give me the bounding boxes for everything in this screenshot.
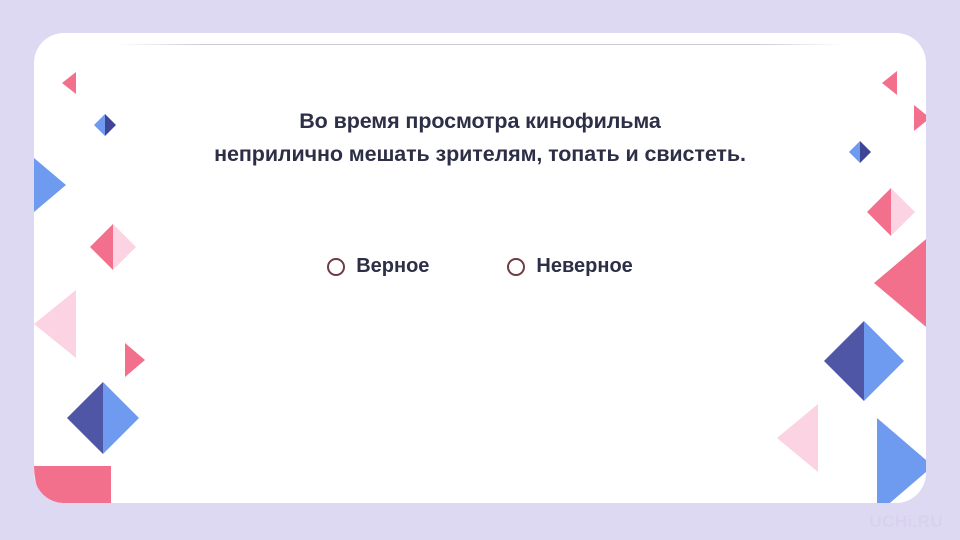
card-top-divider — [116, 44, 844, 45]
diamond-half-right — [864, 321, 904, 401]
diamond-half-right — [891, 188, 915, 236]
diamond-half-left — [67, 382, 103, 454]
triangle-left-pink-top-right — [882, 71, 897, 95]
radio-button-icon[interactable] — [507, 258, 525, 276]
option-false[interactable]: Неверное — [507, 255, 632, 278]
diamond-half-left — [824, 321, 864, 401]
triangle-left-pink-large-right — [874, 234, 926, 332]
triangle-left-pink-top-left — [62, 72, 76, 94]
diamond-half-left — [867, 188, 891, 236]
radio-button-icon[interactable] — [327, 258, 345, 276]
diamond-pink-right — [867, 188, 915, 236]
option-false-label: Неверное — [536, 255, 632, 278]
option-true[interactable]: Верное — [327, 255, 429, 278]
triangle-left-pink-pale-left — [34, 290, 76, 358]
triangle-left-pink-pale-bottom-right — [777, 404, 818, 472]
diamond-blue-large-right — [824, 321, 904, 401]
question-text: Во время просмотра кинофильма неприлично… — [34, 105, 926, 171]
question-card: Во время просмотра кинофильма неприлично… — [34, 33, 926, 503]
question-line-2: неприлично мешать зрителям, топать и сви… — [34, 138, 926, 171]
quarter-circle-pink-bottom-left — [34, 466, 111, 503]
slide-canvas: Во время просмотра кинофильма неприлично… — [0, 0, 960, 540]
triangle-right-blue-bottom-right — [877, 418, 926, 503]
option-true-label: Верное — [356, 255, 429, 278]
question-line-1: Во время просмотра кинофильма — [34, 105, 926, 138]
diamond-blue-large-left — [67, 382, 139, 454]
answer-options: Верное Неверное — [34, 255, 926, 278]
diamond-half-right — [103, 382, 139, 454]
triangle-right-pink-small-left — [125, 343, 145, 377]
uchi-ru-logo: UCHi.RU — [869, 512, 943, 532]
